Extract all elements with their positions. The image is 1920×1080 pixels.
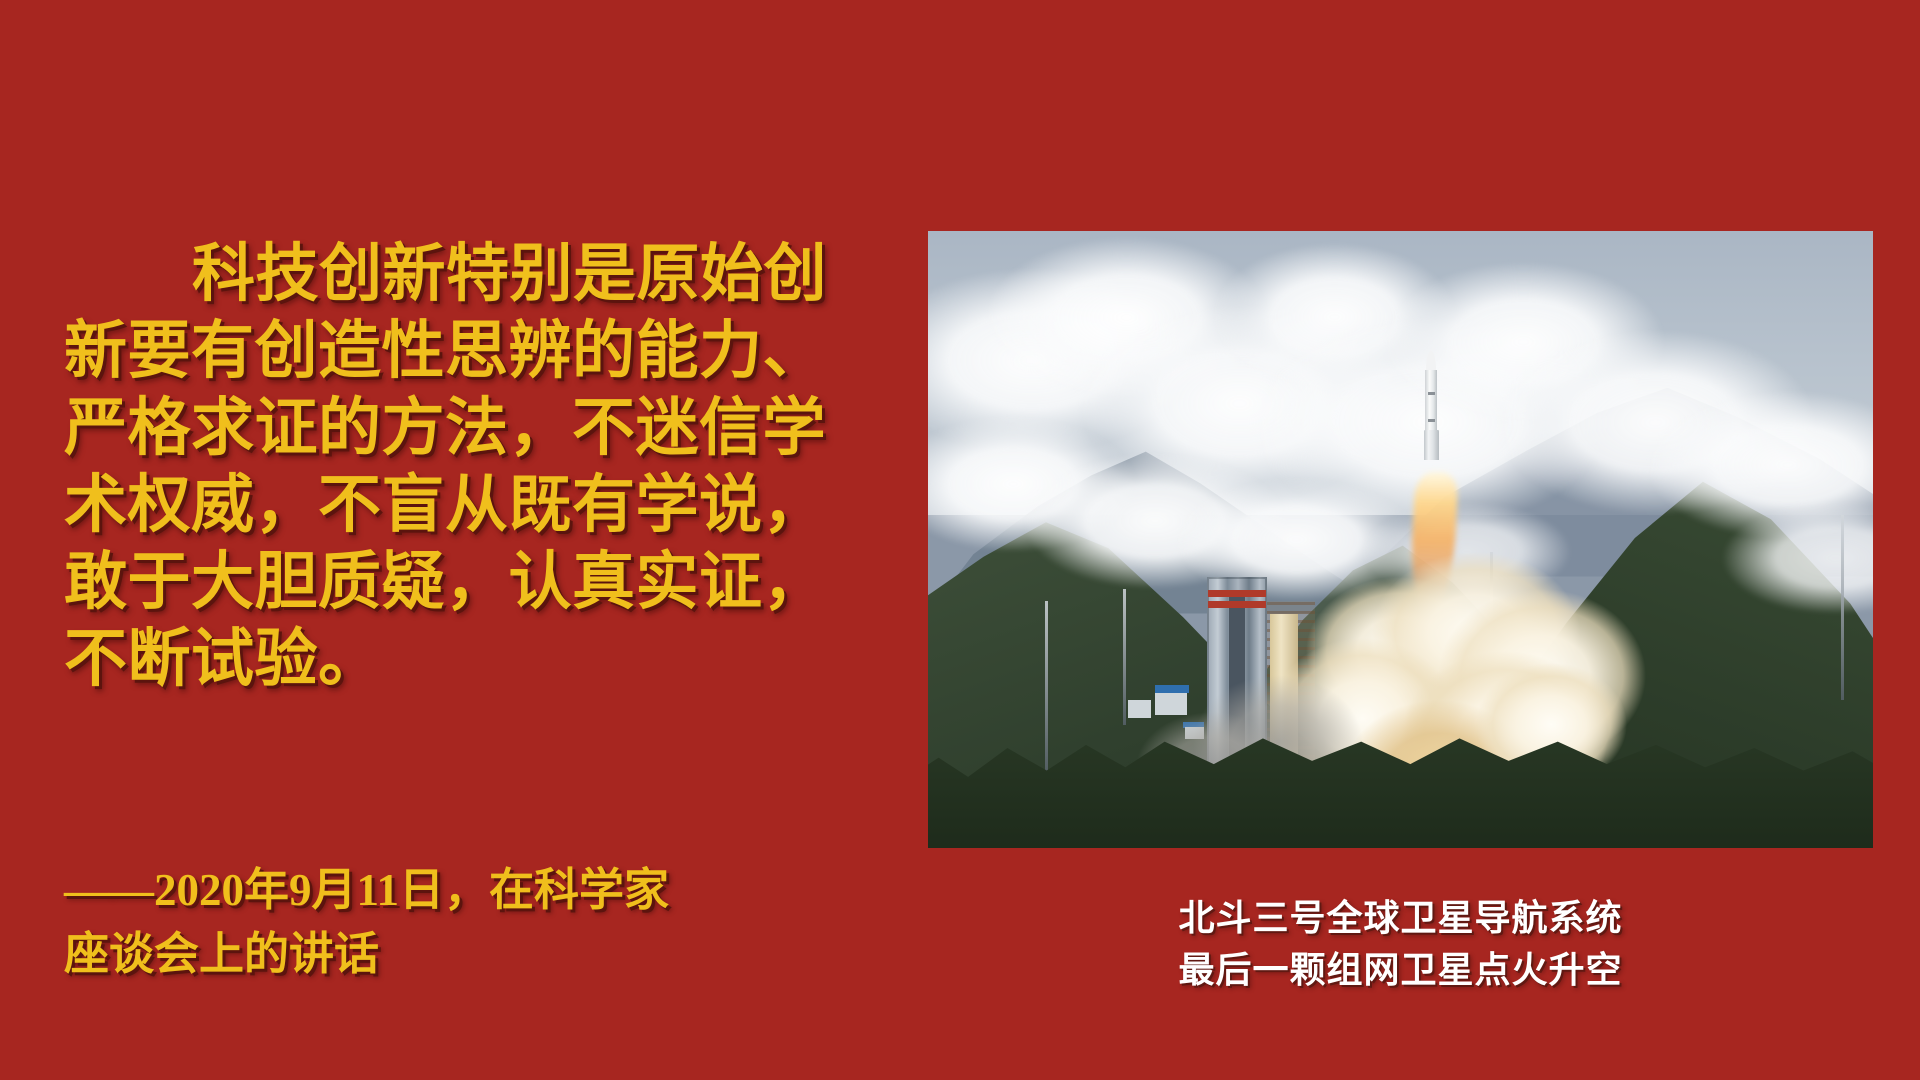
caption-line: 最后一颗组网卫星点火升空: [928, 944, 1873, 996]
antenna-mast: [1841, 515, 1844, 700]
quote-line: 不断试验。: [64, 621, 864, 698]
quote-block: 科技创新特别是原始创 新要有创造性思辨的能力、 严格求证的方法，不迷信学 术权威…: [64, 236, 864, 698]
village-building: [1128, 700, 1151, 719]
rocket-marking: [1428, 392, 1435, 395]
village-roof: [1155, 685, 1189, 692]
antenna-mast: [1045, 601, 1048, 774]
antenna-mast: [1123, 589, 1126, 725]
launch-photo: [928, 231, 1873, 848]
tower-band: [1208, 590, 1266, 597]
attribution-block: ——2020年9月11日，在科学家 座谈会上的讲话: [64, 858, 884, 986]
photo-caption: 北斗三号全球卫星导航系统 最后一颗组网卫星点火升空: [928, 892, 1873, 996]
quote-line: 敢于大胆质疑，认真实证，: [64, 544, 864, 621]
ascending-rocket: [1423, 351, 1439, 487]
launch-photo-canvas: [928, 231, 1873, 848]
attribution-line: 座谈会上的讲话: [64, 922, 884, 986]
caption-line: 北斗三号全球卫星导航系统: [928, 892, 1873, 944]
quote-line: 严格求证的方法，不迷信学: [64, 390, 864, 467]
attribution-line: ——2020年9月11日，在科学家: [64, 858, 884, 922]
slide-root: 科技创新特别是原始创 新要有创造性思辨的能力、 严格求证的方法，不迷信学 术权威…: [0, 0, 1920, 1080]
quote-line: 术权威，不盲从既有学说，: [64, 467, 864, 544]
quote-line: 新要有创造性思辨的能力、: [64, 313, 864, 390]
tower-band: [1208, 601, 1266, 608]
village-building: [1155, 691, 1187, 716]
rocket-boosters: [1424, 430, 1439, 460]
rocket-marking: [1428, 419, 1435, 422]
quote-line: 科技创新特别是原始创: [64, 236, 864, 313]
